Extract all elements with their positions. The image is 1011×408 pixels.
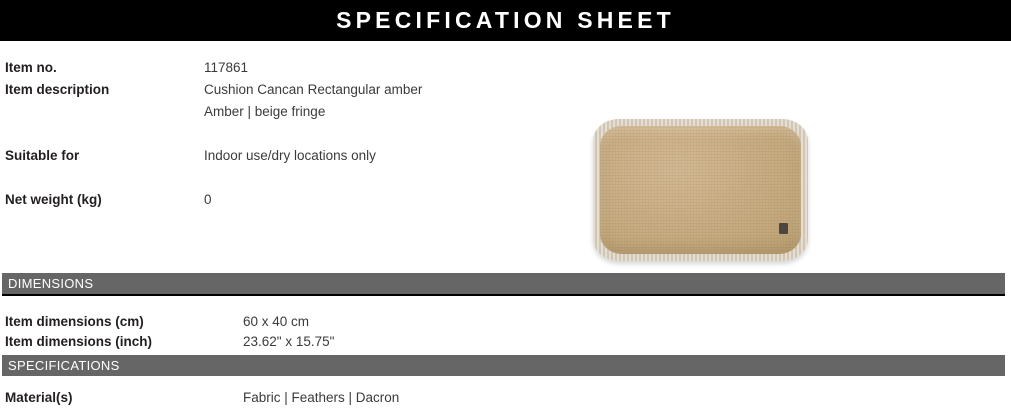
cushion-weave-texture — [600, 126, 801, 254]
specification-label: Material(s) — [0, 388, 243, 408]
specifications-block: Material(s) Fabric | Feathers | Dacron — [0, 388, 600, 408]
cushion-illustration — [593, 119, 808, 261]
info-row-suitable-for: Suitable for Indoor use/dry locations on… — [0, 145, 560, 167]
info-label: Item no. — [0, 57, 204, 79]
specification-value: Fabric | Feathers | Dacron — [243, 388, 399, 408]
info-label: Suitable for — [0, 145, 204, 167]
info-row-item-description: Item description Cushion Cancan Rectangu… — [0, 79, 560, 101]
info-value: Cushion Cancan Rectangular amber — [204, 79, 422, 101]
info-value: 117861 — [204, 57, 248, 79]
dimension-row-cm: Item dimensions (cm) 60 x 40 cm — [0, 312, 600, 332]
dimension-label: Item dimensions (inch) — [0, 332, 243, 352]
section-header-specifications: SPECIFICATIONS — [2, 355, 1005, 376]
dimension-row-inch: Item dimensions (inch) 23.62" x 15.75" — [0, 332, 600, 352]
spacer — [0, 123, 560, 145]
dimension-value: 60 x 40 cm — [243, 312, 309, 332]
info-label: Net weight (kg) — [0, 189, 204, 211]
specification-row-materials: Material(s) Fabric | Feathers | Dacron — [0, 388, 600, 408]
info-row-item-description-sub: Amber | beige fringe — [0, 101, 560, 123]
product-image — [575, 104, 830, 276]
info-value: Indoor use/dry locations only — [204, 145, 376, 167]
info-row-item-no: Item no. 117861 — [0, 57, 560, 79]
section-divider-dimensions — [2, 294, 1005, 296]
page-title: SPECIFICATION SHEET — [336, 9, 675, 32]
spacer — [0, 167, 560, 189]
dimension-value: 23.62" x 15.75" — [243, 332, 334, 352]
dimension-label: Item dimensions (cm) — [0, 312, 243, 332]
brand-label-tag — [779, 223, 788, 234]
section-title: SPECIFICATIONS — [2, 359, 120, 372]
section-header-dimensions: DIMENSIONS — [2, 273, 1005, 294]
section-title: DIMENSIONS — [2, 277, 93, 290]
document-header: SPECIFICATION SHEET — [0, 0, 1011, 41]
info-value: Amber | beige fringe — [204, 101, 325, 123]
product-info-block: Item no. 117861 Item description Cushion… — [0, 57, 560, 211]
info-label: Item description — [0, 79, 204, 101]
info-row-net-weight: Net weight (kg) 0 — [0, 189, 560, 211]
info-value: 0 — [204, 189, 212, 211]
dimensions-block: Item dimensions (cm) 60 x 40 cm Item dim… — [0, 312, 600, 352]
cushion-body — [600, 126, 801, 254]
